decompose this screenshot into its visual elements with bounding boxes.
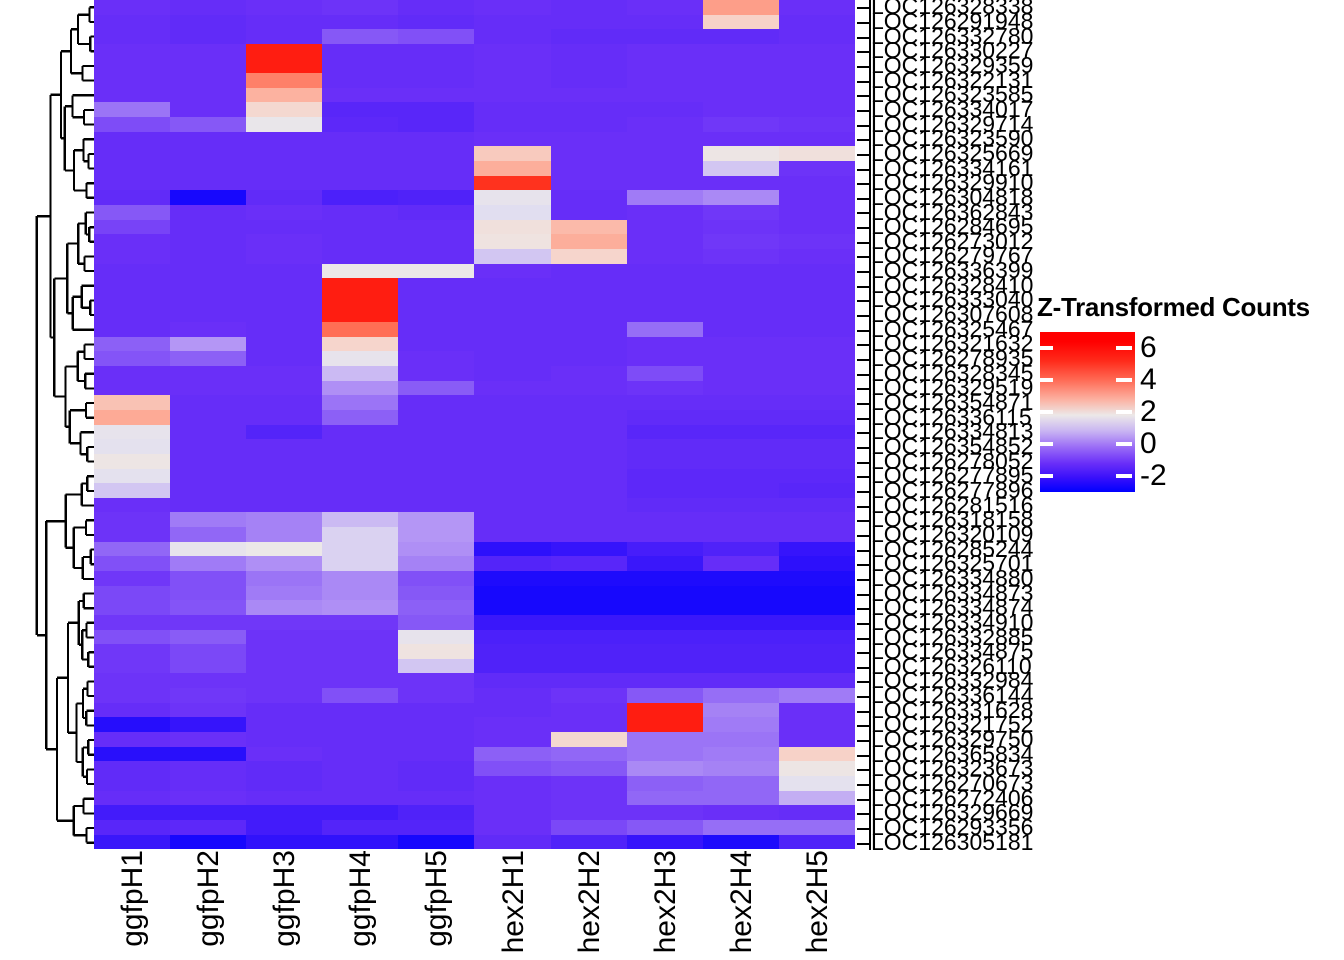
heatmap-cell[interactable] (94, 102, 170, 117)
heatmap-cell[interactable] (703, 703, 779, 718)
heatmap-cell[interactable] (398, 688, 474, 703)
heatmap-cell[interactable] (551, 556, 627, 571)
heatmap-cell[interactable] (94, 556, 170, 571)
heatmap-cell[interactable] (551, 527, 627, 542)
heatmap-cell[interactable] (779, 15, 855, 30)
heatmap-cell[interactable] (474, 805, 550, 820)
heatmap-cell[interactable] (779, 761, 855, 776)
heatmap-cell[interactable] (246, 630, 322, 645)
heatmap-cell[interactable] (246, 732, 322, 747)
heatmap-cell[interactable] (170, 29, 246, 44)
heatmap-cell[interactable] (779, 483, 855, 498)
heatmap-cell[interactable] (170, 454, 246, 469)
heatmap-cell[interactable] (170, 542, 246, 557)
heatmap-cell[interactable] (551, 0, 627, 15)
heatmap-cell[interactable] (94, 410, 170, 425)
heatmap-cell[interactable] (398, 381, 474, 396)
heatmap-cell[interactable] (703, 835, 779, 850)
heatmap-cell[interactable] (322, 542, 398, 557)
heatmap-cell[interactable] (94, 234, 170, 249)
heatmap-cell[interactable] (246, 835, 322, 850)
heatmap-cell[interactable] (398, 205, 474, 220)
heatmap-cell[interactable] (703, 88, 779, 103)
heatmap-cell[interactable] (474, 703, 550, 718)
heatmap-cell[interactable] (170, 469, 246, 484)
heatmap-cell[interactable] (627, 15, 703, 30)
heatmap-cell[interactable] (398, 322, 474, 337)
heatmap-cell[interactable] (703, 0, 779, 15)
heatmap-cell[interactable] (398, 190, 474, 205)
heatmap-cell[interactable] (627, 220, 703, 235)
heatmap-cell[interactable] (398, 278, 474, 293)
heatmap-cell[interactable] (551, 59, 627, 74)
heatmap-cell[interactable] (398, 395, 474, 410)
heatmap-cell[interactable] (779, 820, 855, 835)
heatmap-cell[interactable] (94, 673, 170, 688)
heatmap-cell[interactable] (703, 615, 779, 630)
heatmap-cell[interactable] (170, 59, 246, 74)
heatmap-cell[interactable] (246, 15, 322, 30)
heatmap-cell[interactable] (398, 307, 474, 322)
heatmap-cell[interactable] (779, 146, 855, 161)
heatmap-cell[interactable] (322, 659, 398, 674)
heatmap-cell[interactable] (551, 483, 627, 498)
heatmap-cell[interactable] (246, 117, 322, 132)
heatmap-cell[interactable] (474, 117, 550, 132)
heatmap-cell[interactable] (246, 600, 322, 615)
heatmap-cell[interactable] (170, 410, 246, 425)
heatmap-cell[interactable] (322, 835, 398, 850)
heatmap-cell[interactable] (779, 425, 855, 440)
heatmap-cell[interactable] (94, 176, 170, 191)
heatmap-cell[interactable] (703, 205, 779, 220)
heatmap-cell[interactable] (398, 132, 474, 147)
heatmap-cell[interactable] (170, 425, 246, 440)
heatmap-cell[interactable] (170, 322, 246, 337)
heatmap-cell[interactable] (703, 146, 779, 161)
heatmap-cell[interactable] (703, 410, 779, 425)
heatmap-cell[interactable] (474, 439, 550, 454)
heatmap-cell[interactable] (170, 190, 246, 205)
heatmap-cell[interactable] (627, 29, 703, 44)
heatmap-cell[interactable] (94, 249, 170, 264)
heatmap-cell[interactable] (246, 703, 322, 718)
heatmap-cell[interactable] (94, 820, 170, 835)
heatmap-cell[interactable] (703, 483, 779, 498)
heatmap-cell[interactable] (322, 102, 398, 117)
heatmap-cell[interactable] (322, 761, 398, 776)
heatmap-cell[interactable] (627, 307, 703, 322)
heatmap-cell[interactable] (627, 542, 703, 557)
heatmap-cell[interactable] (551, 44, 627, 59)
heatmap-cell[interactable] (322, 395, 398, 410)
heatmap-cell[interactable] (94, 59, 170, 74)
heatmap-cell[interactable] (322, 278, 398, 293)
heatmap-cell[interactable] (246, 322, 322, 337)
heatmap-cell[interactable] (474, 205, 550, 220)
heatmap-cell[interactable] (94, 0, 170, 15)
heatmap-cell[interactable] (246, 351, 322, 366)
heatmap-cell[interactable] (779, 29, 855, 44)
heatmap-cell[interactable] (246, 747, 322, 762)
heatmap-cell[interactable] (246, 220, 322, 235)
heatmap-cell[interactable] (94, 278, 170, 293)
heatmap-cell[interactable] (474, 395, 550, 410)
heatmap-cell[interactable] (322, 15, 398, 30)
heatmap-cell[interactable] (94, 717, 170, 732)
heatmap-cell[interactable] (94, 395, 170, 410)
heatmap-cell[interactable] (779, 556, 855, 571)
heatmap-cell[interactable] (474, 410, 550, 425)
heatmap-cell[interactable] (627, 117, 703, 132)
heatmap-cell[interactable] (627, 703, 703, 718)
heatmap-cell[interactable] (94, 15, 170, 30)
heatmap-cell[interactable] (322, 615, 398, 630)
heatmap-cell[interactable] (94, 307, 170, 322)
heatmap-cell[interactable] (703, 805, 779, 820)
heatmap-cell[interactable] (627, 278, 703, 293)
heatmap-cell[interactable] (398, 0, 474, 15)
heatmap-cell[interactable] (170, 220, 246, 235)
heatmap-cell[interactable] (398, 117, 474, 132)
heatmap-cell[interactable] (551, 307, 627, 322)
heatmap-cell[interactable] (551, 747, 627, 762)
heatmap-cell[interactable] (246, 571, 322, 586)
heatmap-cell[interactable] (779, 249, 855, 264)
heatmap-cell[interactable] (703, 15, 779, 30)
heatmap-cell[interactable] (322, 322, 398, 337)
heatmap-cell[interactable] (398, 366, 474, 381)
heatmap-cell[interactable] (779, 410, 855, 425)
heatmap-cell[interactable] (703, 454, 779, 469)
heatmap-cell[interactable] (170, 395, 246, 410)
heatmap-cell[interactable] (627, 59, 703, 74)
heatmap-cell[interactable] (170, 351, 246, 366)
heatmap-cell[interactable] (246, 29, 322, 44)
heatmap-cell[interactable] (551, 102, 627, 117)
heatmap-cell[interactable] (94, 659, 170, 674)
heatmap-cell[interactable] (551, 322, 627, 337)
heatmap-cell[interactable] (474, 761, 550, 776)
heatmap-cell[interactable] (779, 776, 855, 791)
heatmap-cell[interactable] (779, 395, 855, 410)
heatmap-cell[interactable] (170, 102, 246, 117)
heatmap-cell[interactable] (779, 454, 855, 469)
heatmap-cell[interactable] (246, 542, 322, 557)
heatmap-cell[interactable] (627, 732, 703, 747)
heatmap-cell[interactable] (627, 205, 703, 220)
heatmap-cell[interactable] (246, 249, 322, 264)
heatmap-cell[interactable] (551, 249, 627, 264)
heatmap-cell[interactable] (398, 776, 474, 791)
heatmap-cell[interactable] (94, 542, 170, 557)
heatmap-cell[interactable] (322, 117, 398, 132)
heatmap-cell[interactable] (474, 835, 550, 850)
heatmap-cell[interactable] (703, 600, 779, 615)
heatmap-cell[interactable] (779, 542, 855, 557)
heatmap-cell[interactable] (779, 615, 855, 630)
heatmap-cell[interactable] (703, 117, 779, 132)
heatmap-cell[interactable] (398, 410, 474, 425)
heatmap-cell[interactable] (474, 454, 550, 469)
heatmap-cell[interactable] (322, 351, 398, 366)
heatmap-cell[interactable] (627, 659, 703, 674)
heatmap-cell[interactable] (398, 673, 474, 688)
heatmap-cell[interactable] (322, 88, 398, 103)
heatmap-cell[interactable] (627, 556, 703, 571)
heatmap-cell[interactable] (398, 161, 474, 176)
heatmap-cell[interactable] (551, 190, 627, 205)
heatmap-cell[interactable] (551, 278, 627, 293)
heatmap-cell[interactable] (703, 322, 779, 337)
heatmap-cell[interactable] (94, 161, 170, 176)
heatmap-cell[interactable] (246, 337, 322, 352)
heatmap-cell[interactable] (627, 454, 703, 469)
heatmap-cell[interactable] (551, 600, 627, 615)
heatmap-cell[interactable] (322, 381, 398, 396)
heatmap-cell[interactable] (246, 132, 322, 147)
heatmap-cell[interactable] (703, 747, 779, 762)
heatmap-cell[interactable] (551, 88, 627, 103)
heatmap-cell[interactable] (627, 395, 703, 410)
heatmap-cell[interactable] (627, 425, 703, 440)
heatmap-cell[interactable] (703, 556, 779, 571)
heatmap-cell[interactable] (246, 454, 322, 469)
heatmap-cell[interactable] (551, 15, 627, 30)
heatmap-cell[interactable] (474, 776, 550, 791)
heatmap-cell[interactable] (398, 73, 474, 88)
heatmap-cell[interactable] (94, 512, 170, 527)
heatmap-cell[interactable] (246, 615, 322, 630)
heatmap-cell[interactable] (94, 205, 170, 220)
heatmap-cell[interactable] (627, 761, 703, 776)
heatmap-cell[interactable] (170, 761, 246, 776)
heatmap-cell[interactable] (474, 659, 550, 674)
heatmap-cell[interactable] (779, 220, 855, 235)
heatmap-cell[interactable] (779, 673, 855, 688)
heatmap-cell[interactable] (627, 351, 703, 366)
heatmap-cell[interactable] (322, 483, 398, 498)
heatmap-cell[interactable] (398, 454, 474, 469)
heatmap-cell[interactable] (398, 498, 474, 513)
heatmap-cell[interactable] (779, 512, 855, 527)
heatmap-cell[interactable] (322, 630, 398, 645)
heatmap-cell[interactable] (779, 747, 855, 762)
heatmap-cell[interactable] (170, 117, 246, 132)
heatmap-cell[interactable] (551, 29, 627, 44)
heatmap-cell[interactable] (474, 556, 550, 571)
heatmap-cell[interactable] (551, 410, 627, 425)
heatmap-cell[interactable] (474, 249, 550, 264)
heatmap-cell[interactable] (170, 805, 246, 820)
heatmap-cell[interactable] (551, 791, 627, 806)
heatmap-cell[interactable] (551, 220, 627, 235)
heatmap-cell[interactable] (398, 351, 474, 366)
heatmap-cell[interactable] (627, 366, 703, 381)
heatmap-cell[interactable] (322, 220, 398, 235)
heatmap-cell[interactable] (703, 586, 779, 601)
heatmap-cell[interactable] (170, 732, 246, 747)
heatmap-cell[interactable] (627, 747, 703, 762)
heatmap-cell[interactable] (474, 366, 550, 381)
heatmap-cell[interactable] (246, 395, 322, 410)
heatmap-cell[interactable] (170, 337, 246, 352)
heatmap-cell[interactable] (703, 498, 779, 513)
heatmap-cell[interactable] (322, 146, 398, 161)
heatmap-cell[interactable] (322, 29, 398, 44)
heatmap-cell[interactable] (779, 703, 855, 718)
heatmap-cell[interactable] (627, 176, 703, 191)
heatmap-cell[interactable] (170, 791, 246, 806)
heatmap-cell[interactable] (246, 659, 322, 674)
heatmap-cell[interactable] (779, 644, 855, 659)
heatmap-cell[interactable] (703, 249, 779, 264)
heatmap-cell[interactable] (322, 439, 398, 454)
heatmap-cell[interactable] (474, 527, 550, 542)
heatmap-cell[interactable] (627, 44, 703, 59)
heatmap-cell[interactable] (322, 673, 398, 688)
heatmap-cell[interactable] (474, 161, 550, 176)
heatmap-cell[interactable] (627, 527, 703, 542)
heatmap-cell[interactable] (703, 776, 779, 791)
heatmap-cell[interactable] (627, 381, 703, 396)
heatmap-cell[interactable] (398, 469, 474, 484)
heatmap-cell[interactable] (627, 615, 703, 630)
heatmap-cell[interactable] (322, 293, 398, 308)
heatmap-cell[interactable] (322, 791, 398, 806)
heatmap-cell[interactable] (246, 146, 322, 161)
heatmap-cell[interactable] (703, 29, 779, 44)
heatmap-cell[interactable] (474, 615, 550, 630)
heatmap-cell[interactable] (322, 498, 398, 513)
heatmap-cell[interactable] (627, 249, 703, 264)
heatmap-cell[interactable] (551, 161, 627, 176)
heatmap-cell[interactable] (398, 425, 474, 440)
heatmap-cell[interactable] (322, 0, 398, 15)
heatmap-cell[interactable] (246, 527, 322, 542)
heatmap-cell[interactable] (474, 44, 550, 59)
heatmap-cell[interactable] (551, 542, 627, 557)
heatmap-cell[interactable] (322, 732, 398, 747)
heatmap-cell[interactable] (398, 527, 474, 542)
heatmap-cell[interactable] (398, 791, 474, 806)
heatmap-cell[interactable] (246, 176, 322, 191)
heatmap-cell[interactable] (170, 249, 246, 264)
heatmap-cell[interactable] (551, 234, 627, 249)
heatmap-cell[interactable] (703, 527, 779, 542)
heatmap-cell[interactable] (627, 586, 703, 601)
heatmap-cell[interactable] (246, 761, 322, 776)
heatmap-cell[interactable] (551, 454, 627, 469)
heatmap-cell[interactable] (703, 571, 779, 586)
heatmap-cell[interactable] (551, 644, 627, 659)
heatmap-cell[interactable] (474, 717, 550, 732)
heatmap-cell[interactable] (246, 483, 322, 498)
heatmap-cell[interactable] (474, 732, 550, 747)
heatmap-cell[interactable] (627, 776, 703, 791)
heatmap-cell[interactable] (779, 527, 855, 542)
heatmap-cell[interactable] (246, 717, 322, 732)
heatmap-cell[interactable] (703, 278, 779, 293)
heatmap-cell[interactable] (779, 190, 855, 205)
heatmap-cell[interactable] (170, 176, 246, 191)
heatmap-cell[interactable] (170, 703, 246, 718)
heatmap-cell[interactable] (94, 439, 170, 454)
heatmap-cell[interactable] (322, 366, 398, 381)
heatmap-cell[interactable] (246, 644, 322, 659)
heatmap-cell[interactable] (398, 703, 474, 718)
heatmap-cell[interactable] (246, 805, 322, 820)
heatmap-cell[interactable] (551, 439, 627, 454)
heatmap-cell[interactable] (627, 600, 703, 615)
heatmap-cell[interactable] (322, 161, 398, 176)
heatmap-cell[interactable] (170, 381, 246, 396)
heatmap-cell[interactable] (779, 366, 855, 381)
heatmap-cell[interactable] (779, 600, 855, 615)
heatmap-cell[interactable] (703, 673, 779, 688)
heatmap-cell[interactable] (170, 498, 246, 513)
heatmap-cell[interactable] (94, 322, 170, 337)
heatmap-cell[interactable] (779, 586, 855, 601)
heatmap-cell[interactable] (246, 278, 322, 293)
heatmap-cell[interactable] (551, 469, 627, 484)
heatmap-cell[interactable] (474, 630, 550, 645)
heatmap-cell[interactable] (627, 161, 703, 176)
heatmap-cell[interactable] (627, 190, 703, 205)
heatmap-cell[interactable] (474, 220, 550, 235)
heatmap-cell[interactable] (170, 644, 246, 659)
heatmap-cell[interactable] (551, 703, 627, 718)
heatmap-cell[interactable] (627, 322, 703, 337)
heatmap-cell[interactable] (474, 600, 550, 615)
heatmap-cell[interactable] (474, 483, 550, 498)
heatmap-cell[interactable] (398, 88, 474, 103)
heatmap-cell[interactable] (94, 381, 170, 396)
heatmap-cell[interactable] (322, 190, 398, 205)
heatmap-cell[interactable] (94, 747, 170, 762)
heatmap-cell[interactable] (627, 293, 703, 308)
heatmap-cell[interactable] (170, 615, 246, 630)
heatmap-cell[interactable] (322, 703, 398, 718)
heatmap-cell[interactable] (398, 249, 474, 264)
heatmap-cell[interactable] (94, 805, 170, 820)
heatmap-cell[interactable] (170, 439, 246, 454)
heatmap-cell[interactable] (170, 88, 246, 103)
heatmap-cell[interactable] (779, 439, 855, 454)
heatmap-cell[interactable] (94, 425, 170, 440)
heatmap-cell[interactable] (627, 483, 703, 498)
heatmap-cell[interactable] (474, 747, 550, 762)
heatmap-cell[interactable] (398, 176, 474, 191)
heatmap-cell[interactable] (551, 776, 627, 791)
heatmap-cell[interactable] (170, 586, 246, 601)
heatmap-cell[interactable] (703, 732, 779, 747)
heatmap-cell[interactable] (703, 688, 779, 703)
heatmap-cell[interactable] (779, 278, 855, 293)
heatmap-cell[interactable] (551, 498, 627, 513)
heatmap-cell[interactable] (94, 776, 170, 791)
heatmap-cell[interactable] (398, 717, 474, 732)
heatmap-cell[interactable] (703, 73, 779, 88)
heatmap-cell[interactable] (627, 835, 703, 850)
heatmap-cell[interactable] (551, 820, 627, 835)
heatmap-cell[interactable] (551, 395, 627, 410)
heatmap-cell[interactable] (322, 747, 398, 762)
heatmap-cell[interactable] (398, 102, 474, 117)
heatmap-cell[interactable] (170, 73, 246, 88)
heatmap-cell[interactable] (398, 439, 474, 454)
heatmap-cell[interactable] (398, 630, 474, 645)
